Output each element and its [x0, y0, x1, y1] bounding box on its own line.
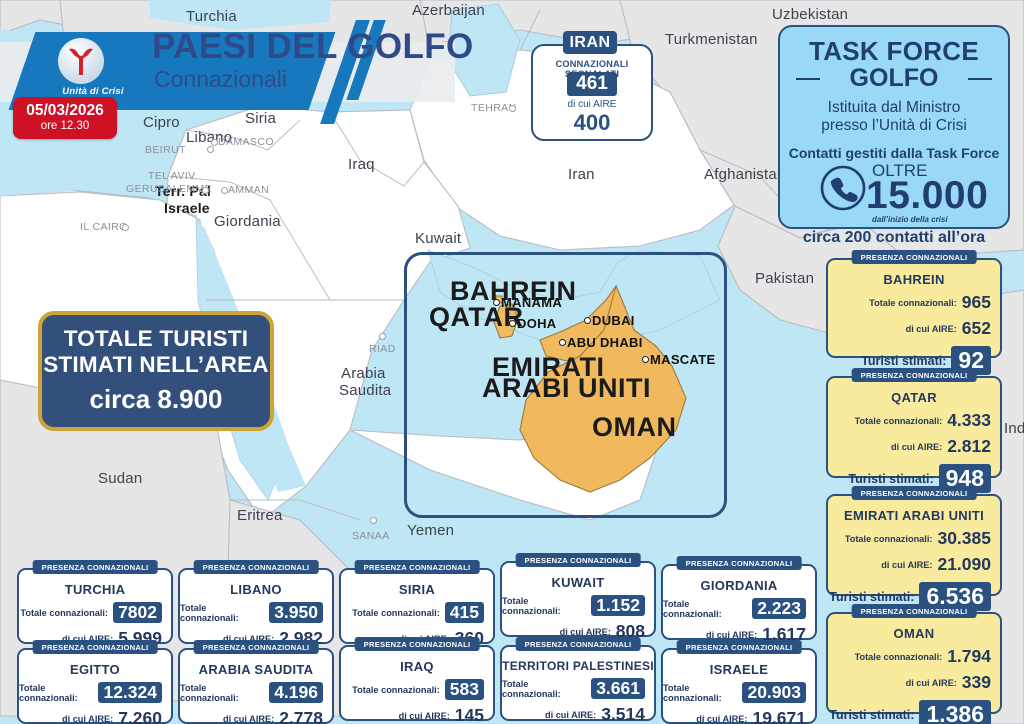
- card-total-row: Totale connazionali: 30.385: [828, 528, 1000, 549]
- map-label-afghanistan: Afghanistan: [704, 166, 785, 183]
- card-aire-value: 652: [962, 318, 991, 339]
- card-total-row: Totale connazionali: 4.333: [828, 410, 1000, 431]
- card-tourists-label: Turisti stimati:: [829, 590, 914, 604]
- card-tag: PRESENZA CONNAZIONALI: [852, 250, 977, 264]
- map-city-il-cairo: IL CAIRO: [80, 221, 128, 233]
- card-total-label: Totale connazionali:: [352, 685, 440, 695]
- card-oman[interactable]: PRESENZA CONNAZIONALI OMAN Totale connaz…: [826, 612, 1002, 714]
- card-aire-value: 145: [455, 705, 484, 724]
- card-aire-row: di cui AIRE: 2.778: [180, 708, 332, 724]
- card-country-name: EGITTO: [19, 662, 171, 677]
- card-aire-value: 7.260: [118, 708, 162, 724]
- card-aire-row: di cui AIRE: 339: [828, 672, 1000, 693]
- card-tag: PRESENZA CONNAZIONALI: [194, 560, 319, 574]
- card-bahrein[interactable]: PRESENZA CONNAZIONALI BAHREIN Totale con…: [826, 258, 1002, 358]
- city-dot-riad: [379, 333, 386, 340]
- card-turchia[interactable]: PRESENZA CONNAZIONALI TURCHIA Totale con…: [17, 568, 173, 644]
- city-dot-sanaa: [370, 517, 377, 524]
- card-aire-label: di cui AIRE:: [891, 442, 942, 452]
- card-egitto[interactable]: PRESENZA CONNAZIONALI EGITTO Totale conn…: [17, 648, 173, 724]
- card-total-value: 415: [445, 602, 484, 623]
- card-aire-value: 339: [962, 672, 991, 693]
- card-aire-value: 2.812: [947, 436, 991, 457]
- city-dot-abu-dhabi: [559, 339, 566, 346]
- card-total-value: 3.661: [591, 678, 645, 699]
- card-total-value: 3.950: [269, 602, 323, 623]
- card-total-value: 4.333: [947, 410, 991, 431]
- map-label-uzbekistan: Uzbekistan: [772, 6, 848, 23]
- card-tag: PRESENZA CONNAZIONALI: [852, 486, 977, 500]
- card-total-value: 4.196: [269, 682, 323, 703]
- card-tag: PRESENZA CONNAZIONALI: [355, 637, 480, 651]
- city-dot-beirut: [207, 146, 214, 153]
- map-label-kuwait: Kuwait: [415, 230, 461, 247]
- card-aire-label: di cui AIRE:: [906, 678, 957, 688]
- card-total-label: Totale connazionali:: [502, 596, 586, 616]
- time-value: ore 12.30: [13, 119, 117, 133]
- map-city-manama: MANAMA: [501, 295, 562, 310]
- map-label-saudita: Saudita: [339, 382, 391, 399]
- card-country-name: GIORDANIA: [663, 578, 815, 593]
- card-country-name: LIBANO: [180, 582, 332, 597]
- card-aire-label: di cui AIRE:: [696, 714, 747, 724]
- card-tag: PRESENZA CONNAZIONALI: [677, 556, 802, 570]
- page-title: PAESI DEL GOLFO: [152, 28, 474, 66]
- total-tourists-line-1: TOTALE TURISTI: [42, 326, 270, 352]
- card-total-value: 583: [445, 679, 484, 700]
- card-aire-value: 2.778: [279, 708, 323, 724]
- map-label-arabia: Arabia: [341, 365, 386, 382]
- map-city-abu-dhabi: ABU DHABI: [567, 335, 643, 350]
- city-dot-amman: [221, 187, 228, 194]
- map-label-india: India: [1004, 420, 1024, 437]
- card-country-name: IRAQ: [341, 659, 493, 674]
- card-country-name: QATAR: [828, 390, 1000, 405]
- task-force-rate-label: circa 200 contatti all’ora: [780, 229, 1008, 247]
- card-total-label: Totale connazionali:: [20, 608, 108, 618]
- card-tourists-value: 1.386: [919, 700, 991, 724]
- card-aire-row: di cui AIRE: 652: [828, 318, 1000, 339]
- card-tag: PRESENZA CONNAZIONALI: [194, 640, 319, 654]
- map-label-sudan: Sudan: [98, 470, 142, 487]
- map-label-yemen: Yemen: [407, 522, 454, 539]
- iran-aire-value: 400: [533, 110, 651, 136]
- city-dot-mascate: [642, 356, 649, 363]
- card-aire-row: di cui AIRE: 3.514: [502, 704, 654, 724]
- card-tourists-label: Turisti stimati:: [829, 708, 914, 722]
- map-label-iraq: Iraq: [348, 156, 375, 173]
- card-siria[interactable]: PRESENZA CONNAZIONALI SIRIA Totale conna…: [339, 568, 495, 644]
- card-country-name: ARABIA SAUDITA: [180, 662, 332, 677]
- card-total-label: Totale connazionali:: [845, 534, 933, 544]
- card-total-label: Totale connazionali:: [180, 683, 264, 703]
- task-force-sub-1: Istituita dal Ministro: [780, 99, 1008, 117]
- map-city-amman: AMMAN: [228, 184, 269, 196]
- logo-label: Unità di Crisi: [48, 86, 138, 97]
- iran-aire-label: di cui AIRE: [533, 99, 651, 110]
- map-city-tel-aviv: TEL AVIV: [148, 170, 196, 182]
- map-city-doha: DOHA: [517, 316, 556, 331]
- iran-reported-value: 461: [567, 72, 617, 96]
- card-total-row: Totale connazionali: 20.903: [663, 682, 815, 703]
- map-label-turkmenistan: Turkmenistan: [665, 31, 758, 48]
- card-country-name: TURCHIA: [19, 582, 171, 597]
- card-total-row: Totale connazionali: 12.324: [19, 682, 171, 703]
- map-label-pakistan: Pakistan: [755, 270, 814, 287]
- card-aire-label: di cui AIRE:: [706, 630, 757, 640]
- city-dot-damasco: [211, 139, 218, 146]
- task-force-title-1: TASK FORCE: [780, 37, 1008, 65]
- card-aire-row: di cui AIRE: 19.671: [663, 708, 815, 724]
- card-emirati-arabi-uniti[interactable]: PRESENZA CONNAZIONALI EMIRATI ARABI UNIT…: [826, 494, 1002, 596]
- card-total-label: Totale connazionali:: [663, 683, 737, 703]
- date-value: 05/03/2026: [13, 102, 117, 119]
- card-tag: PRESENZA CONNAZIONALI: [33, 560, 158, 574]
- card-tag: PRESENZA CONNAZIONALI: [852, 604, 977, 618]
- card-country-name: TERRITORI PALESTINESI: [502, 659, 654, 673]
- task-force-rule-right: [968, 78, 992, 80]
- card-total-label: Totale connazionali:: [352, 608, 440, 618]
- task-force-number-row: OLTRE 15.000 dall’inizio della crisi: [780, 163, 1008, 215]
- card-total-row: Totale connazionali: 415: [341, 602, 493, 623]
- card-country-name: SIRIA: [341, 582, 493, 597]
- city-dot-doha: [509, 320, 516, 327]
- card-total-value: 1.794: [947, 646, 991, 667]
- card-tourists-row: Turisti stimati: 1.386: [828, 700, 1000, 724]
- card-total-row: Totale connazionali: 3.950: [180, 602, 332, 623]
- task-force-sub-2: presso l’Unità di Crisi: [780, 117, 1008, 135]
- card-aire-label: di cui AIRE:: [881, 560, 932, 570]
- map-city-sanaa: SANAA: [352, 530, 390, 542]
- card-aire-value: 19.671: [752, 708, 806, 724]
- card-tag: PRESENZA CONNAZIONALI: [677, 640, 802, 654]
- task-force-card: TASK FORCE GOLFO Istituita dal Ministro …: [778, 25, 1010, 229]
- map-highlight-oman: OMAN: [592, 412, 677, 443]
- card-total-label: Totale connazionali:: [502, 679, 586, 699]
- task-force-rule-left: [796, 78, 820, 80]
- iran-card-tag: IRAN: [563, 31, 617, 54]
- city-dot-il-cairo: [122, 224, 129, 231]
- card-country-name: BAHREIN: [828, 272, 1000, 287]
- card-total-label: Totale connazionali:: [663, 599, 747, 619]
- city-dot-manama: [493, 299, 500, 306]
- card-aire-label: di cui AIRE:: [399, 711, 450, 721]
- card-tag: PRESENZA CONNAZIONALI: [516, 553, 641, 567]
- card-aire-label: di cui AIRE:: [62, 714, 113, 724]
- map-label-giordania: Giordania: [214, 213, 281, 230]
- card-aire-label: di cui AIRE:: [906, 324, 957, 334]
- card-total-label: Totale connazionali:: [869, 298, 957, 308]
- card-tag: PRESENZA CONNAZIONALI: [516, 637, 641, 651]
- map-city-damasco: DAMASCO: [218, 136, 274, 148]
- card-tourists-label: Turisti stimati:: [861, 354, 946, 368]
- city-dot-gerusalemme: [202, 187, 209, 194]
- card-total-row: Totale connazionali: 4.196: [180, 682, 332, 703]
- card-qatar[interactable]: PRESENZA CONNAZIONALI QATAR Totale conna…: [826, 376, 1002, 478]
- card-total-value: 12.324: [98, 682, 162, 703]
- card-tag: PRESENZA CONNAZIONALI: [852, 368, 977, 382]
- card-total-value: 2.223: [752, 598, 806, 619]
- card-tag: PRESENZA CONNAZIONALI: [355, 560, 480, 574]
- card-total-label: Totale connazionali:: [855, 652, 943, 662]
- map-label-turchia: Turchia: [186, 8, 237, 25]
- iran-card: CONNAZIONALI SEGNALATI 461 di cui AIRE 4…: [531, 44, 653, 141]
- card-total-value: 965: [962, 292, 991, 313]
- map-city-dubai: DUBAI: [592, 313, 635, 328]
- card-total-value: 7802: [113, 602, 162, 623]
- map-city-gerusalemme: GERUSALEMME: [126, 183, 212, 195]
- task-force-contacts-label: Contatti gestiti dalla Task Force: [780, 145, 1008, 161]
- card-total-value: 30.385: [937, 528, 991, 549]
- page-subtitle: Connazionali: [154, 66, 287, 92]
- map-label-siria: Siria: [245, 110, 276, 127]
- total-tourists-box: TOTALE TURISTI STIMATI NELL’AREA circa 8…: [38, 311, 274, 431]
- card-libano[interactable]: PRESENZA CONNAZIONALI LIBANO Totale conn…: [178, 568, 334, 644]
- card-total-row: Totale connazionali: 965: [828, 292, 1000, 313]
- card-israele[interactable]: PRESENZA CONNAZIONALI ISRAELE Totale con…: [661, 648, 817, 724]
- card-kuwait[interactable]: PRESENZA CONNAZIONALI KUWAIT Totale conn…: [500, 561, 656, 637]
- card-total-row: Totale connazionali: 2.223: [663, 598, 815, 619]
- infographic-root: Turchia Azerbaijan Uzbekistan Turkmenist…: [0, 0, 1024, 724]
- card-total-value: 20.903: [742, 682, 806, 703]
- card-aire-row: di cui AIRE: 145: [341, 705, 493, 724]
- card-territori-palestinesi[interactable]: PRESENZA CONNAZIONALI TERRITORI PALESTIN…: [500, 645, 656, 721]
- card-arabia-saudita[interactable]: PRESENZA CONNAZIONALI ARABIA SAUDITA Tot…: [178, 648, 334, 724]
- card-giordania[interactable]: PRESENZA CONNAZIONALI GIORDANIA Totale c…: [661, 564, 817, 640]
- card-total-label: Totale connazionali:: [855, 416, 943, 426]
- task-force-title-2: GOLFO: [780, 65, 1008, 91]
- map-city-riad: RIAD: [369, 343, 396, 355]
- card-aire-row: di cui AIRE: 7.260: [19, 708, 171, 724]
- city-dot-tehran: [509, 105, 516, 112]
- phone-icon: [820, 165, 866, 211]
- card-total-row: Totale connazionali: 7802: [19, 602, 171, 623]
- card-aire-label: di cui AIRE:: [223, 714, 274, 724]
- card-total-row: Totale connazionali: 1.152: [502, 595, 654, 616]
- task-force-title-2-text: GOLFO: [850, 64, 939, 92]
- map-label-iran: Iran: [568, 166, 595, 183]
- card-total-label: Totale connazionali:: [19, 683, 93, 703]
- card-total-row: Totale connazionali: 583: [341, 679, 493, 700]
- card-aire-row: di cui AIRE: 21.090: [828, 554, 1000, 575]
- card-total-label: Totale connazionali:: [180, 603, 264, 623]
- card-country-name: EMIRATI ARABI UNITI: [828, 508, 1000, 523]
- card-total-row: Totale connazionali: 1.794: [828, 646, 1000, 667]
- card-aire-label: di cui AIRE:: [545, 710, 596, 720]
- card-aire-row: di cui AIRE: 2.812: [828, 436, 1000, 457]
- card-tag: PRESENZA CONNAZIONALI: [33, 640, 158, 654]
- card-country-name: KUWAIT: [502, 575, 654, 590]
- map-label-eritrea: Eritrea: [237, 507, 283, 524]
- total-tourists-line-2: STIMATI NELL’AREA: [42, 352, 270, 378]
- date-badge: 05/03/2026 ore 12.30: [13, 97, 117, 139]
- logo-emblem-icon: [67, 45, 95, 77]
- card-total-value: 1.152: [591, 595, 645, 616]
- city-dot-dubai: [584, 317, 591, 324]
- card-tourists-label: Turisti stimati:: [848, 472, 933, 486]
- map-city-mascate: MASCATE: [650, 352, 715, 367]
- card-iraq[interactable]: PRESENZA CONNAZIONALI IRAQ Totale connaz…: [339, 645, 495, 721]
- card-total-row: Totale connazionali: 3.661: [502, 678, 654, 699]
- total-tourists-value: circa 8.900: [42, 384, 270, 415]
- map-highlight-arabi-uniti: ARABI UNITI: [482, 373, 651, 404]
- map-label-cipro: Cipro: [143, 114, 180, 131]
- card-aire-value: 3.514: [601, 704, 645, 724]
- card-country-name: OMAN: [828, 626, 1000, 641]
- map-label-israele: Israele: [164, 200, 210, 216]
- card-country-name: ISRAELE: [663, 662, 815, 677]
- card-aire-label: di cui AIRE:: [560, 627, 611, 637]
- map-city-beirut: BEIRUT: [145, 144, 186, 156]
- task-force-since-label: dall’inizio della crisi: [872, 215, 948, 224]
- card-aire-value: 21.090: [937, 554, 991, 575]
- task-force-big-number: 15.000: [866, 174, 988, 218]
- map-label-azerbaijan: Azerbaijan: [412, 2, 485, 19]
